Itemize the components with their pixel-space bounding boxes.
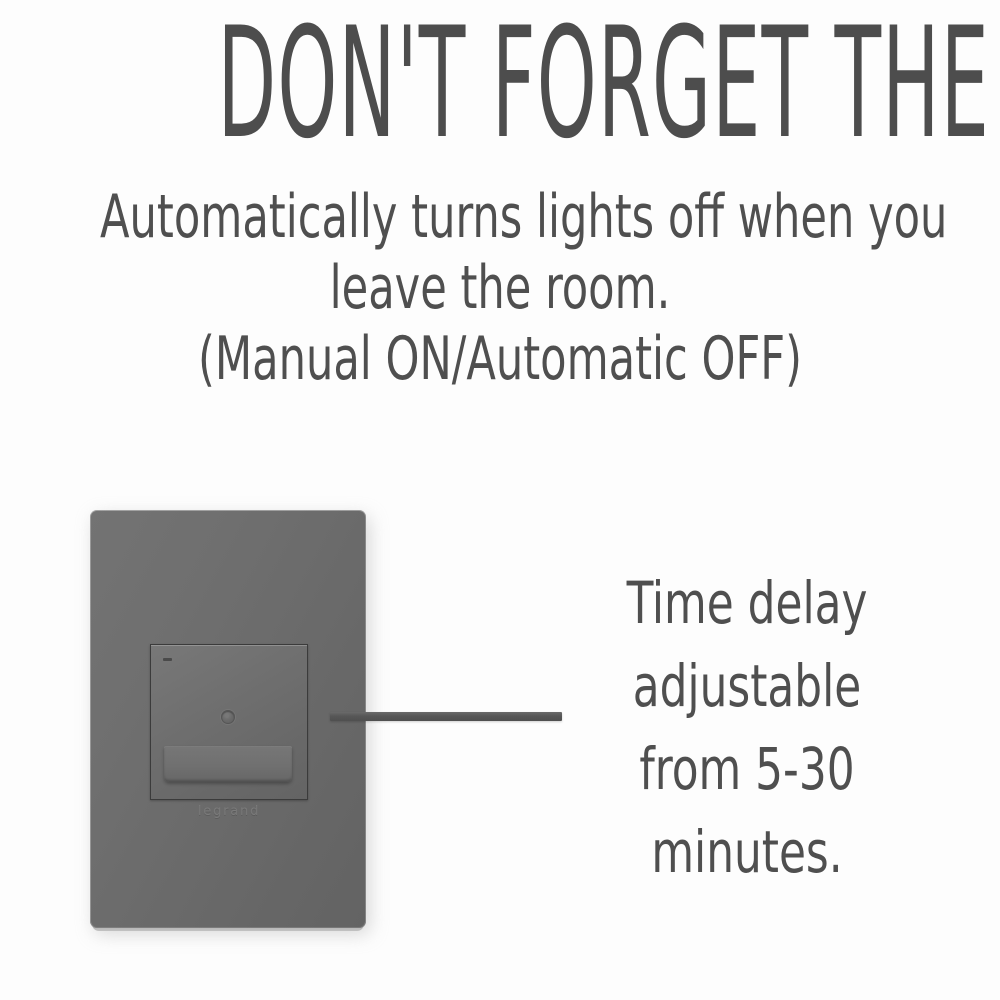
callout-line-4: minutes. xyxy=(592,811,903,894)
callout-line-1: Time delay xyxy=(592,562,903,645)
callout-line-2: adjustable xyxy=(592,645,903,728)
brand-wordmark: legrand xyxy=(150,804,308,819)
subtitle-line-2: leave the room. xyxy=(100,253,900,324)
occupancy-sensor-icon xyxy=(221,710,235,724)
page-title: DON'T FORGET THE LIGHTS. xyxy=(218,17,783,152)
callout-text-block: Time delay adjustable from 5-30 minutes. xyxy=(562,562,932,894)
promo-graphic: DON'T FORGET THE LIGHTS. Automatically t… xyxy=(0,0,1000,1000)
callout-line-3: from 5-30 xyxy=(592,728,903,811)
callout-leader-line xyxy=(330,712,562,721)
rocker-paddle-button[interactable] xyxy=(164,746,292,782)
switch-module[interactable] xyxy=(150,644,308,800)
subtitle-line-3: (Manual ON/Automatic OFF) xyxy=(100,324,900,395)
module-notch xyxy=(163,658,172,661)
subtitle-block: Automatically turns lights off when you … xyxy=(0,182,1000,395)
subtitle-line-1: Automatically turns lights off when you xyxy=(100,182,900,253)
